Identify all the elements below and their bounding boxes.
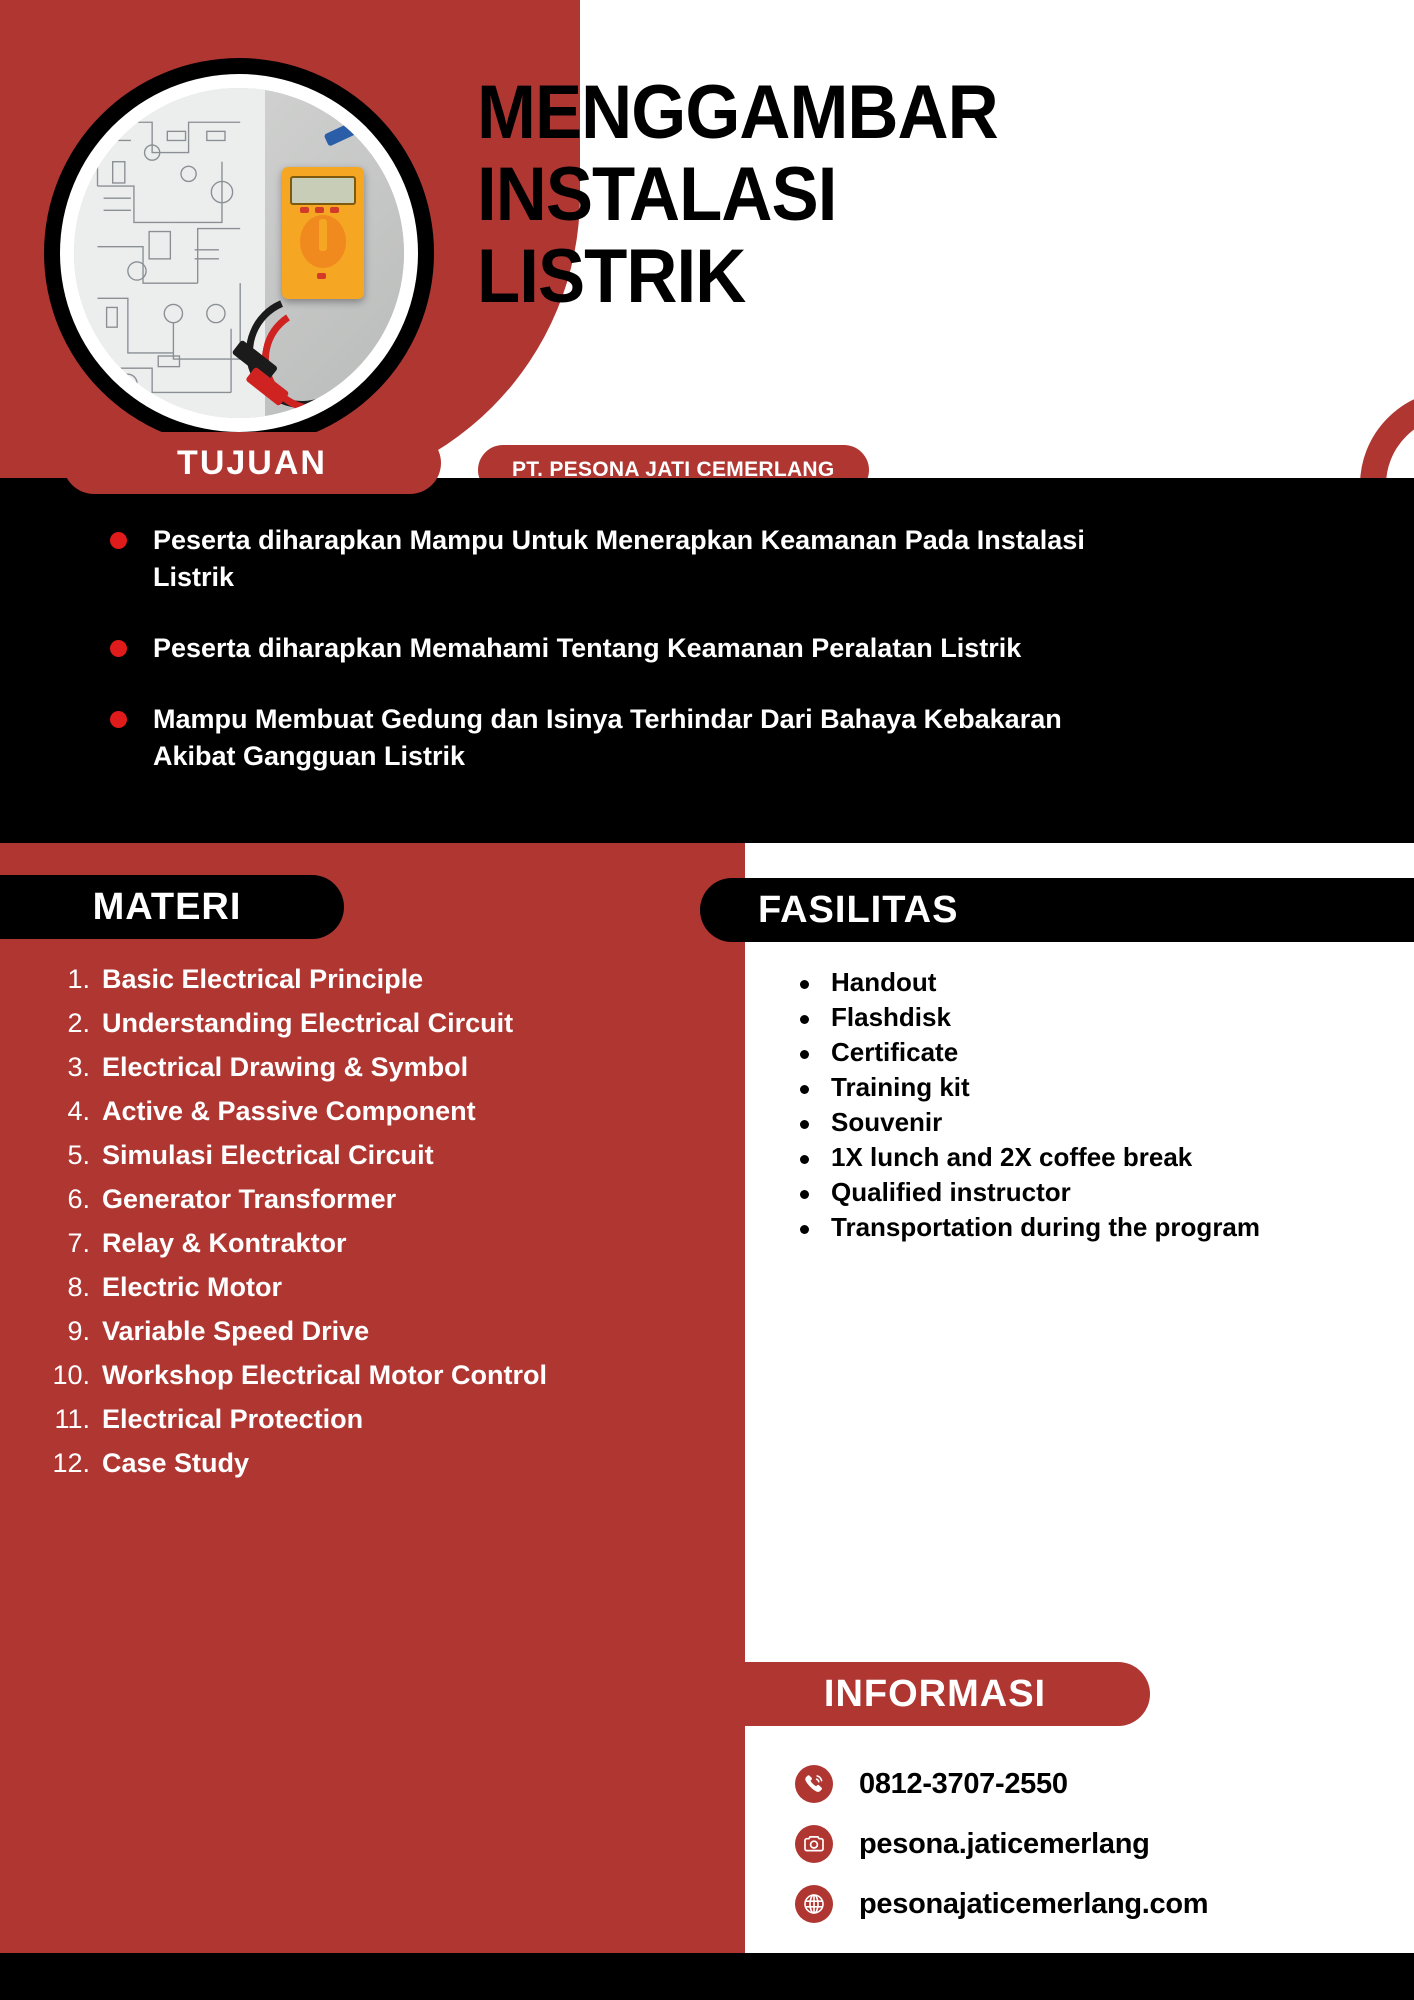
circuit-schematic-drawing (81, 101, 266, 405)
phone-icon (795, 1765, 833, 1803)
fasilitas-heading-label: FASILITAS (758, 889, 958, 932)
materi-heading-pill: MATERI (0, 875, 344, 939)
list-item: Peserta diharapkan Mampu Untuk Menerapka… (110, 522, 1150, 596)
fasilitas-item-text: Training kit (831, 1070, 970, 1104)
bullet-dot-icon (800, 1050, 809, 1059)
list-item: Souvenir (800, 1105, 1400, 1139)
tujuan-heading-label: TUJUAN (177, 444, 327, 483)
fasilitas-item-text: Transportation during the program (831, 1210, 1260, 1244)
fasilitas-item-text: Flashdisk (831, 1000, 951, 1034)
bullet-dot-icon (800, 1120, 809, 1129)
materi-item-number: 9. (40, 1312, 102, 1351)
materi-item-text: Electrical Protection (102, 1400, 363, 1439)
list-item: 3. Electrical Drawing & Symbol (40, 1048, 740, 1087)
bullet-dot-icon (800, 1085, 809, 1094)
title-line-1: MENGGAMBAR (477, 72, 1054, 154)
list-item: 6. Generator Transformer (40, 1180, 740, 1219)
list-item: Qualified instructor (800, 1175, 1400, 1209)
fasilitas-list: Handout Flashdisk Certificate Training k… (800, 965, 1400, 1245)
list-item: 4. Active & Passive Component (40, 1092, 740, 1131)
page-title: MENGGAMBAR INSTALASI LISTRIK (477, 72, 1097, 318)
instagram-icon (795, 1825, 833, 1863)
footer-black-bar (0, 1953, 1414, 2000)
phone-number-text: 0812-3707-2550 (859, 1768, 1068, 1801)
list-item: Certificate (800, 1035, 1400, 1069)
bullet-dot-icon (800, 980, 809, 989)
instagram-handle-text: pesona.jaticemerlang (859, 1828, 1150, 1861)
tujuan-item-text: Mampu Membuat Gedung dan Isinya Terhinda… (153, 701, 1150, 775)
photo-frame-outer-ring (44, 58, 434, 448)
bullet-dot-icon (110, 532, 127, 549)
bullet-dot-icon (110, 640, 127, 657)
list-item: 5. Simulasi Electrical Circuit (40, 1136, 740, 1175)
materi-item-text: Relay & Kontraktor (102, 1224, 347, 1263)
multimeter-button (300, 207, 309, 214)
list-item: Mampu Membuat Gedung dan Isinya Terhinda… (110, 701, 1150, 775)
list-item: Flashdisk (800, 1000, 1400, 1034)
bullet-dot-icon (800, 1225, 809, 1234)
list-item: 8. Electric Motor (40, 1268, 740, 1307)
bullet-dot-icon (800, 1190, 809, 1199)
materi-item-number: 5. (40, 1136, 102, 1175)
materi-item-number: 7. (40, 1224, 102, 1263)
tujuan-heading-pill: TUJUAN (63, 432, 441, 494)
multimeter-screen (290, 176, 356, 205)
tujuan-item-text: Peserta diharapkan Memahami Tentang Keam… (153, 630, 1021, 667)
materi-item-number: 1. (40, 960, 102, 999)
schematic-multimeter-photo (74, 88, 404, 418)
list-item: Peserta diharapkan Memahami Tentang Keam… (110, 630, 1150, 667)
list-item: Transportation during the program (800, 1210, 1400, 1244)
website-url-text: pesonajaticemerlang.com (859, 1888, 1208, 1921)
list-item: 2. Understanding Electrical Circuit (40, 1004, 740, 1043)
materi-item-number: 11. (40, 1400, 102, 1439)
materi-item-number: 12. (40, 1444, 102, 1483)
title-line-3: LISTRIK (477, 236, 1054, 318)
globe-icon (795, 1885, 833, 1923)
list-item: 7. Relay & Kontraktor (40, 1224, 740, 1263)
fasilitas-heading-pill: FASILITAS (700, 878, 1414, 942)
materi-item-text: Variable Speed Drive (102, 1312, 369, 1351)
bullet-dot-icon (110, 711, 127, 728)
contact-website[interactable]: pesonajaticemerlang.com (795, 1885, 1414, 1923)
materi-item-text: Electrical Drawing & Symbol (102, 1048, 468, 1087)
fasilitas-item-text: Qualified instructor (831, 1175, 1071, 1209)
list-item: 11. Electrical Protection (40, 1400, 740, 1439)
multimeter-device (282, 167, 365, 299)
materi-heading-label: MATERI (93, 886, 242, 929)
informasi-heading-label: INFORMASI (824, 1673, 1046, 1716)
informasi-contact-list: 0812-3707-2550 pesona.jaticemerlang peso… (795, 1765, 1414, 1945)
materi-item-text: Case Study (102, 1444, 249, 1483)
tujuan-list: Peserta diharapkan Mampu Untuk Menerapka… (110, 522, 1150, 809)
list-item: 1. Basic Electrical Principle (40, 960, 740, 999)
poster-canvas: MENGGAMBAR INSTALASI LISTRIK PT. PESONA … (0, 0, 1414, 2000)
materi-item-text: Workshop Electrical Motor Control (102, 1356, 547, 1395)
multimeter-button (317, 273, 326, 280)
multimeter-dial (300, 215, 346, 268)
fasilitas-item-text: Souvenir (831, 1105, 942, 1139)
bullet-dot-icon (800, 1155, 809, 1164)
list-item: 12. Case Study (40, 1444, 740, 1483)
list-item: 10. Workshop Electrical Motor Control (40, 1356, 740, 1395)
materi-item-number: 10. (40, 1356, 102, 1395)
materi-item-text: Active & Passive Component (102, 1092, 476, 1131)
materi-item-text: Understanding Electrical Circuit (102, 1004, 513, 1043)
fasilitas-item-text: Certificate (831, 1035, 958, 1069)
materi-item-text: Electric Motor (102, 1268, 282, 1307)
multimeter-button (330, 207, 339, 214)
fasilitas-item-text: 1X lunch and 2X coffee break (831, 1140, 1192, 1174)
multimeter-button (315, 207, 324, 214)
bullet-dot-icon (800, 1015, 809, 1024)
materi-item-text: Simulasi Electrical Circuit (102, 1136, 434, 1175)
materi-item-number: 4. (40, 1092, 102, 1131)
materi-item-text: Generator Transformer (102, 1180, 396, 1219)
tujuan-item-text: Peserta diharapkan Mampu Untuk Menerapka… (153, 522, 1150, 596)
title-line-2: INSTALASI (477, 154, 1054, 236)
list-item: 9. Variable Speed Drive (40, 1312, 740, 1351)
informasi-heading-pill: INFORMASI (660, 1662, 1150, 1726)
list-item: Training kit (800, 1070, 1400, 1104)
contact-instagram[interactable]: pesona.jaticemerlang (795, 1825, 1414, 1863)
list-item: Handout (800, 965, 1400, 999)
materi-item-text: Basic Electrical Principle (102, 960, 423, 999)
materi-item-number: 6. (40, 1180, 102, 1219)
materi-item-number: 3. (40, 1048, 102, 1087)
materi-item-number: 2. (40, 1004, 102, 1043)
contact-phone[interactable]: 0812-3707-2550 (795, 1765, 1414, 1803)
materi-list: 1. Basic Electrical Principle 2. Underst… (40, 960, 740, 1488)
list-item: 1X lunch and 2X coffee break (800, 1140, 1400, 1174)
materi-item-number: 8. (40, 1268, 102, 1307)
photo-frame-inner-ring (60, 74, 418, 432)
fasilitas-item-text: Handout (831, 965, 936, 999)
